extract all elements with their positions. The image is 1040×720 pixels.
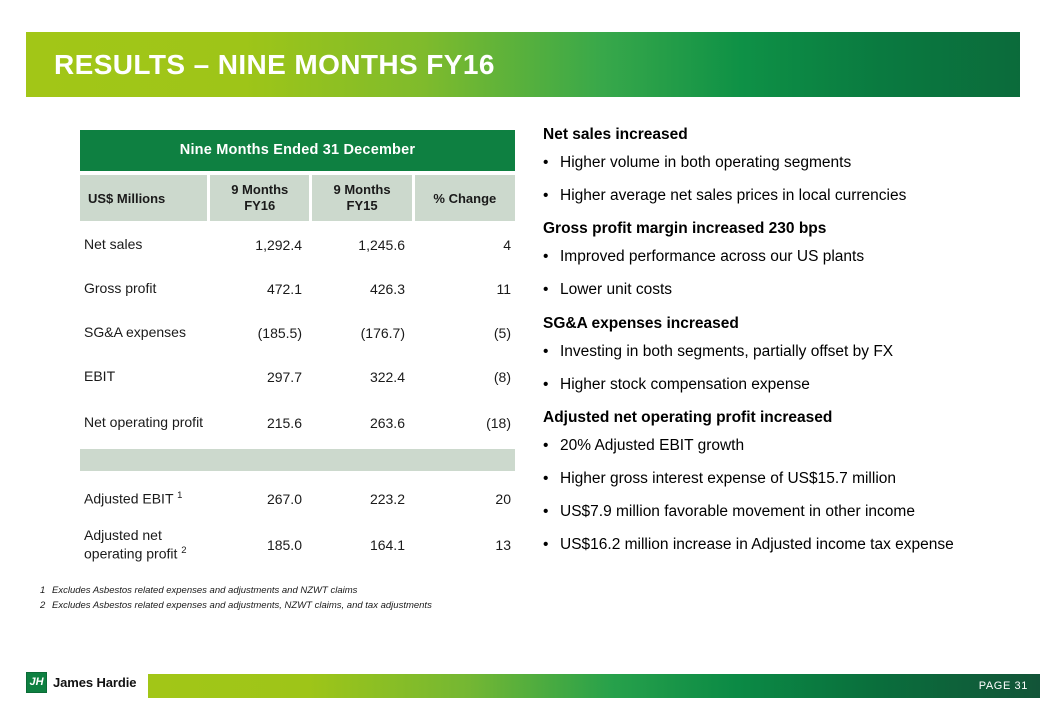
table-row: Adjusted net operating profit 2 185.0 16… <box>80 521 515 569</box>
page-title: RESULTS – NINE MONTHS FY16 <box>54 49 495 81</box>
row-fy15: 223.2 <box>314 491 417 507</box>
row-fy16: 215.6 <box>211 415 314 431</box>
bullet-icon: • <box>543 502 560 522</box>
logo-monogram: JH <box>29 677 43 688</box>
row-label: SG&A expenses <box>80 324 211 342</box>
row-label: Adjusted EBIT 1 <box>80 490 211 508</box>
row-fy16: (185.5) <box>211 325 314 341</box>
table-header-fy16-line1: 9 Months <box>231 182 288 198</box>
commentary-block-sga: SG&A expenses increased • Investing in b… <box>543 315 1023 395</box>
slide-title-band: RESULTS – NINE MONTHS FY16 <box>26 32 1020 97</box>
row-label: EBIT <box>80 368 211 386</box>
table-header-fy15-line1: 9 Months <box>334 182 391 198</box>
row-label-text: Adjusted EBIT <box>84 491 173 507</box>
commentary-block-adjusted-nop: Adjusted net operating profit increased … <box>543 409 1023 556</box>
bullet-text: Improved performance across our US plant… <box>560 247 1023 267</box>
row-fy16: 297.7 <box>211 369 314 385</box>
james-hardie-logo-icon: JH <box>26 672 47 693</box>
table-row: EBIT 297.7 322.4 (8) <box>80 355 515 399</box>
footnote-item: 2Excludes Asbestos related expenses and … <box>40 599 432 614</box>
bullet-icon: • <box>543 280 560 300</box>
footnote-number: 1 <box>40 584 52 599</box>
footnotes: 1Excludes Asbestos related expenses and … <box>40 584 432 613</box>
commentary-bullet: • Higher stock compensation expense <box>543 375 1023 395</box>
table-header-fy15-line2: FY15 <box>334 198 391 214</box>
row-label: Net sales <box>80 236 211 254</box>
commentary-heading: Net sales increased <box>543 126 1023 144</box>
bullet-icon: • <box>543 436 560 456</box>
bullet-icon: • <box>543 469 560 489</box>
row-label: Net operating profit <box>80 414 211 432</box>
bullet-icon: • <box>543 535 560 555</box>
row-fy15: 263.6 <box>314 415 417 431</box>
commentary-bullet: • Improved performance across our US pla… <box>543 247 1023 267</box>
bullet-text: Higher average net sales prices in local… <box>560 186 1023 206</box>
footnote-marker: 1 <box>177 490 182 501</box>
row-fy16: 185.0 <box>211 537 314 553</box>
bullet-text: US$7.9 million favorable movement in oth… <box>560 502 1023 522</box>
commentary-bullet: • Lower unit costs <box>543 280 1023 300</box>
footnote-text: Excludes Asbestos related expenses and a… <box>52 585 357 596</box>
table-header-cell-fy16: 9 Months FY16 <box>210 175 309 221</box>
commentary-bullet: • US$16.2 million increase in Adjusted i… <box>543 535 1023 555</box>
commentary-heading: Adjusted net operating profit increased <box>543 409 1023 427</box>
row-fy15: 1,245.6 <box>314 237 417 253</box>
row-change: 11 <box>417 281 515 297</box>
brand-logo: JH James Hardie <box>26 672 136 693</box>
row-fy16: 267.0 <box>211 491 314 507</box>
table-row: Net operating profit 215.6 263.6 (18) <box>80 399 515 447</box>
table-row: Gross profit 472.1 426.3 11 <box>80 267 515 311</box>
bullet-text: Higher gross interest expense of US$15.7… <box>560 469 1023 489</box>
row-change: 20 <box>417 491 515 507</box>
footer-gradient-bar: PAGE 31 <box>148 674 1040 698</box>
table-header-fy16-line2: FY16 <box>231 198 288 214</box>
row-fy15: (176.7) <box>314 325 417 341</box>
row-change: (5) <box>417 325 515 341</box>
footnote-item: 1Excludes Asbestos related expenses and … <box>40 584 432 599</box>
table-header-cell-change: % Change <box>415 175 515 221</box>
row-label: Gross profit <box>80 280 211 298</box>
row-label: Adjusted net operating profit 2 <box>80 527 211 563</box>
bullet-icon: • <box>543 375 560 395</box>
table-row: Net sales 1,292.4 1,245.6 4 <box>80 223 515 267</box>
brand-name: James Hardie <box>53 675 136 690</box>
commentary-bullet: • US$7.9 million favorable movement in o… <box>543 502 1023 522</box>
commentary-heading: SG&A expenses increased <box>543 315 1023 333</box>
table-spacer-band <box>80 449 515 471</box>
row-change: (8) <box>417 369 515 385</box>
bullet-icon: • <box>543 153 560 173</box>
commentary-block-net-sales: Net sales increased • Higher volume in b… <box>543 126 1023 206</box>
row-label-text: Adjusted net operating profit <box>84 527 177 561</box>
table-body-adjusted: Adjusted EBIT 1 267.0 223.2 20 Adjusted … <box>80 477 515 569</box>
slide: RESULTS – NINE MONTHS FY16 Nine Months E… <box>0 0 1040 720</box>
commentary-bullet: • Investing in both segments, partially … <box>543 342 1023 362</box>
bullet-icon: • <box>543 247 560 267</box>
bullet-text: Higher volume in both operating segments <box>560 153 1023 173</box>
footnote-number: 2 <box>40 599 52 614</box>
bullet-text: Higher stock compensation expense <box>560 375 1023 395</box>
row-fy15: 322.4 <box>314 369 417 385</box>
commentary-block-gross-profit: Gross profit margin increased 230 bps • … <box>543 220 1023 300</box>
bullet-text: US$16.2 million increase in Adjusted inc… <box>560 535 1023 555</box>
row-fy15: 426.3 <box>314 281 417 297</box>
financial-table: Nine Months Ended 31 December US$ Millio… <box>80 130 515 569</box>
commentary-bullet: • Higher gross interest expense of US$15… <box>543 469 1023 489</box>
row-change: 4 <box>417 237 515 253</box>
table-header-row: US$ Millions 9 Months FY16 9 Months FY15… <box>80 175 515 221</box>
commentary-bullet: • Higher volume in both operating segmen… <box>543 153 1023 173</box>
table-header-cell-fy15: 9 Months FY15 <box>312 175 411 221</box>
commentary-column: Net sales increased • Higher volume in b… <box>543 126 1023 568</box>
table-row: Adjusted EBIT 1 267.0 223.2 20 <box>80 477 515 521</box>
row-fy15: 164.1 <box>314 537 417 553</box>
bullet-text: Lower unit costs <box>560 280 1023 300</box>
commentary-bullet: • 20% Adjusted EBIT growth <box>543 436 1023 456</box>
commentary-bullet: • Higher average net sales prices in loc… <box>543 186 1023 206</box>
bullet-text: 20% Adjusted EBIT growth <box>560 436 1023 456</box>
table-row: SG&A expenses (185.5) (176.7) (5) <box>80 311 515 355</box>
row-fy16: 472.1 <box>211 281 314 297</box>
bullet-text: Investing in both segments, partially of… <box>560 342 1023 362</box>
row-fy16: 1,292.4 <box>211 237 314 253</box>
footnote-marker: 2 <box>181 545 186 556</box>
bullet-icon: • <box>543 342 560 362</box>
bullet-icon: • <box>543 186 560 206</box>
row-change: 13 <box>417 537 515 553</box>
table-header-cell-metric: US$ Millions <box>80 175 207 221</box>
table-body-primary: Net sales 1,292.4 1,245.6 4 Gross profit… <box>80 223 515 447</box>
footnote-text: Excludes Asbestos related expenses and a… <box>52 600 432 611</box>
commentary-heading: Gross profit margin increased 230 bps <box>543 220 1023 238</box>
page-number: PAGE 31 <box>979 680 1028 692</box>
table-caption: Nine Months Ended 31 December <box>80 130 515 171</box>
row-change: (18) <box>417 415 515 431</box>
